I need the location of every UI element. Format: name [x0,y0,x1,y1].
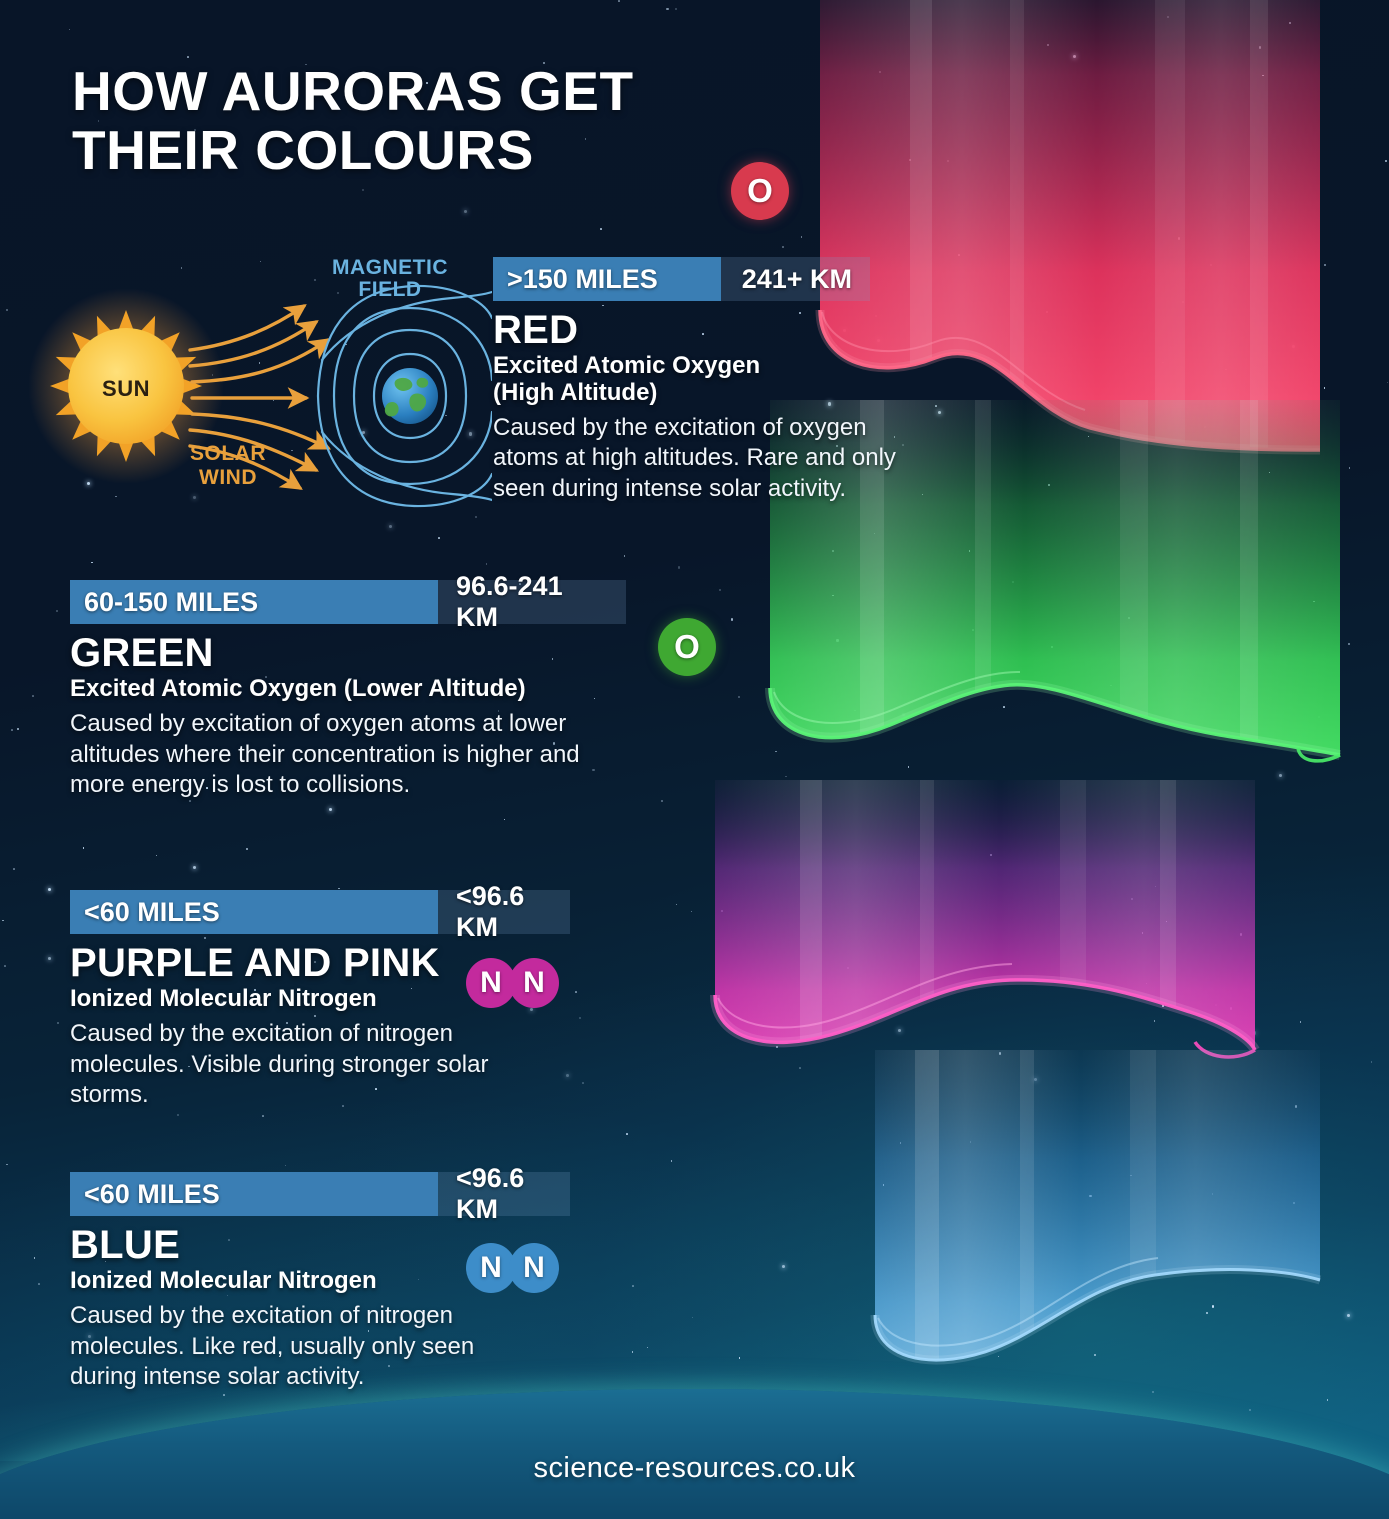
section-red: >150 MILES 241+ KM RED Excited Atomic Ox… [493,257,913,505]
altitude-km-red: 241+ KM [721,257,870,301]
aurora-ribbon-purple-pink [690,800,1310,1120]
solar-wind-diagram: SUN [22,248,492,510]
altitude-km-blue: <96.6 KM [438,1172,570,1216]
page-title: HOW AURORAS GET THEIR COLOURS [72,62,712,181]
altitude-miles-red: >150 MILES [493,257,721,301]
section-blue: <60 MILES <96.6 KM BLUE Ionized Molecula… [70,1172,540,1393]
source-credit: science-resources.co.uk [0,1452,1389,1485]
altitude-miles-blue: <60 MILES [70,1172,438,1216]
molecule-icon-red-oxygen: O [731,162,789,220]
section-green: 60-150 MILES 96.6-241 KM GREEN Excited A… [70,580,640,801]
colour-subtitle-blue: Ionized Molecular Nitrogen [70,1268,540,1295]
atom-o: O [658,618,716,676]
colour-subtitle-red-line2: (High Altitude) [493,380,913,407]
infographic-poster: HOW AURORAS GET THEIR COLOURS [0,0,1389,1519]
colour-description-green: Caused by excitation of oxygen atoms at … [70,709,640,801]
altitude-miles-purple-pink: <60 MILES [70,890,438,934]
sun-label: SUN [102,376,150,401]
section-purple-pink: <60 MILES <96.6 KM PURPLE AND PINK Ioniz… [70,890,540,1111]
altitude-km-green: 96.6-241 KM [438,580,626,624]
atom-o: O [731,162,789,220]
colour-description-red: Caused by the excitation of oxygen atoms… [493,413,913,505]
altitude-km-purple-pink: <96.6 KM [438,890,570,934]
colour-name-blue: BLUE [70,1225,540,1265]
altitude-badge-green: 60-150 MILES 96.6-241 KM [70,580,626,624]
colour-description-blue: Caused by the excitation of nitrogen mol… [70,1301,510,1393]
altitude-miles-green: 60-150 MILES [70,580,438,624]
magnetic-field-label-line2: FIELD [358,278,421,301]
colour-subtitle-purple-pink: Ionized Molecular Nitrogen [70,986,540,1013]
colour-name-red: RED [493,310,913,350]
title-line-2: THEIR COLOURS [72,121,712,180]
altitude-badge-blue: <60 MILES <96.6 KM [70,1172,570,1216]
colour-subtitle-red-line1: Excited Atomic Oxygen [493,353,913,380]
aurora-ribbon-blue [700,1070,1320,1410]
title-line-1: HOW AURORAS GET [72,62,712,121]
colour-subtitle-green: Excited Atomic Oxygen (Lower Altitude) [70,676,640,703]
colour-name-green: GREEN [70,633,640,673]
magnetic-field-label-line1: MAGNETIC [332,256,448,279]
colour-name-purple-pink: PURPLE AND PINK [70,943,540,983]
altitude-badge-red: >150 MILES 241+ KM [493,257,870,301]
solar-wind-label-line2: WIND [199,466,257,489]
altitude-badge-purple-pink: <60 MILES <96.6 KM [70,890,570,934]
colour-description-purple-pink: Caused by the excitation of nitrogen mol… [70,1019,500,1111]
molecule-icon-green-oxygen: O [658,618,716,676]
solar-wind-label-line1: SOLAR [190,442,266,465]
